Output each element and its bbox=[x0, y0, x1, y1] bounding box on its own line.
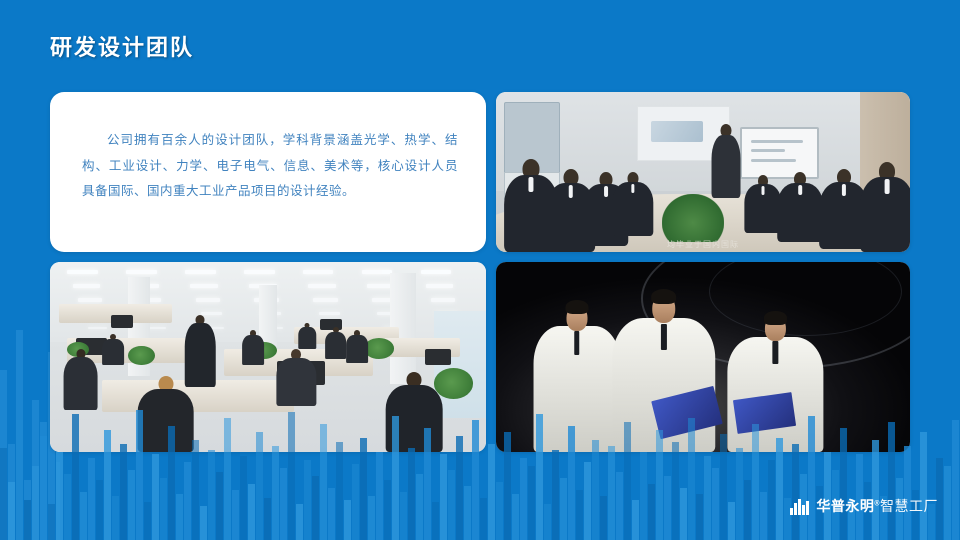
slide-root: 研发设计团队 公司拥有百余人的设计团队，学科背景涵盖光学、热学、结构、工业设计、… bbox=[0, 0, 960, 540]
office-worker bbox=[346, 330, 368, 362]
logo-brand: 华普永明 bbox=[816, 498, 874, 514]
office-worker bbox=[242, 330, 264, 364]
meeting-person bbox=[612, 172, 653, 236]
logo-bars-icon bbox=[790, 497, 810, 515]
photo-meeting-caption: 均毕业于国内国际 bbox=[496, 239, 910, 250]
bottom-bar-decoration bbox=[0, 390, 960, 540]
logo-sub: 智慧工厂 bbox=[880, 498, 938, 514]
office-monitor bbox=[425, 349, 451, 364]
office-worker bbox=[325, 327, 347, 359]
meeting-person bbox=[778, 172, 824, 242]
office-plant bbox=[128, 346, 154, 365]
office-worker bbox=[102, 334, 124, 364]
meeting-person bbox=[744, 175, 781, 233]
office-worker bbox=[299, 323, 316, 350]
meeting-presenter bbox=[711, 124, 740, 198]
office-monitor bbox=[111, 315, 133, 328]
brand-logo: 华普永明®智慧工厂 bbox=[790, 496, 938, 516]
text-card-body: 公司拥有百余人的设计团队，学科背景涵盖光学、热学、结构、工业设计、力学、电子电气… bbox=[82, 128, 458, 205]
logo-text: 华普永明®智慧工厂 bbox=[816, 496, 938, 516]
text-card: 公司拥有百余人的设计团队，学科背景涵盖光学、热学、结构、工业设计、力学、电子电气… bbox=[50, 92, 486, 252]
page-title: 研发设计团队 bbox=[50, 30, 194, 62]
office-plant bbox=[364, 338, 395, 359]
photo-meeting-room: 均毕业于国内国际 bbox=[496, 92, 910, 252]
